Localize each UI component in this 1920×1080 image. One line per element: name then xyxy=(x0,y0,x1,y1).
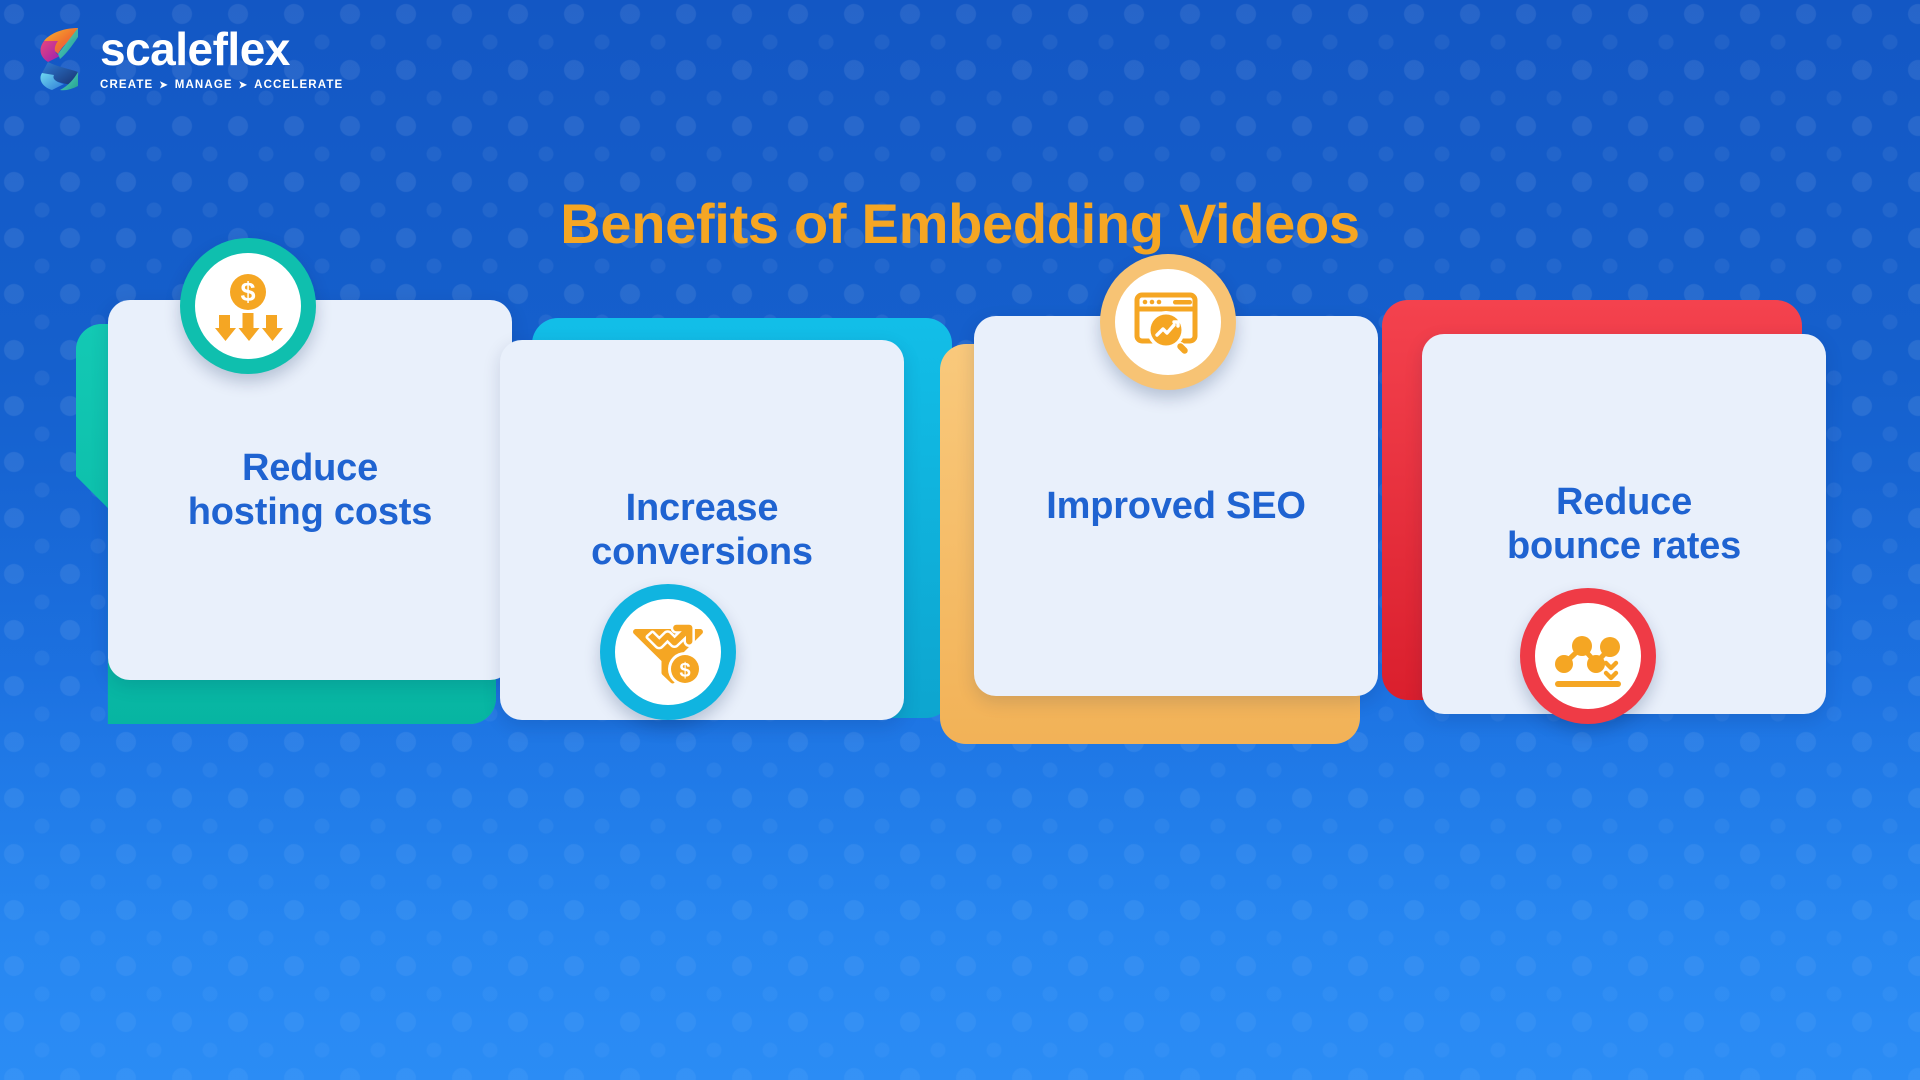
card-label: Improved SEO xyxy=(1046,484,1305,528)
card-label: Reduce hosting costs xyxy=(188,446,432,534)
benefit-cards-row: Reduce hosting costs $ xyxy=(0,0,1920,1080)
card-badge: $ xyxy=(600,584,736,720)
svg-text:$: $ xyxy=(679,660,690,682)
card-badge: $ xyxy=(180,238,316,374)
card-badge xyxy=(1100,254,1236,390)
benefit-card-reduce-bounce-rates[interactable]: Reduce bounce rates xyxy=(1382,300,1802,720)
card-badge xyxy=(1520,588,1656,724)
benefit-card-reduce-hosting-costs[interactable]: Reduce hosting costs $ xyxy=(60,300,480,720)
bounce-rate-chart-icon xyxy=(1535,603,1641,709)
card-label: Reduce bounce rates xyxy=(1507,480,1741,568)
card-label: Increase conversions xyxy=(591,486,813,574)
svg-text:$: $ xyxy=(240,277,255,307)
benefit-card-increase-conversions[interactable]: Increase conversions $ xyxy=(500,300,920,720)
card-panel: Reduce hosting costs xyxy=(108,300,512,680)
money-down-arrows-icon: $ xyxy=(195,253,301,359)
seo-search-window-icon xyxy=(1115,269,1221,375)
benefit-card-improved-seo[interactable]: Improved SEO xyxy=(940,300,1360,720)
slide-canvas: scaleflex CREATE ➤ MANAGE ➤ ACCELERATE B… xyxy=(0,0,1920,1080)
conversion-funnel-icon: $ xyxy=(615,599,721,705)
